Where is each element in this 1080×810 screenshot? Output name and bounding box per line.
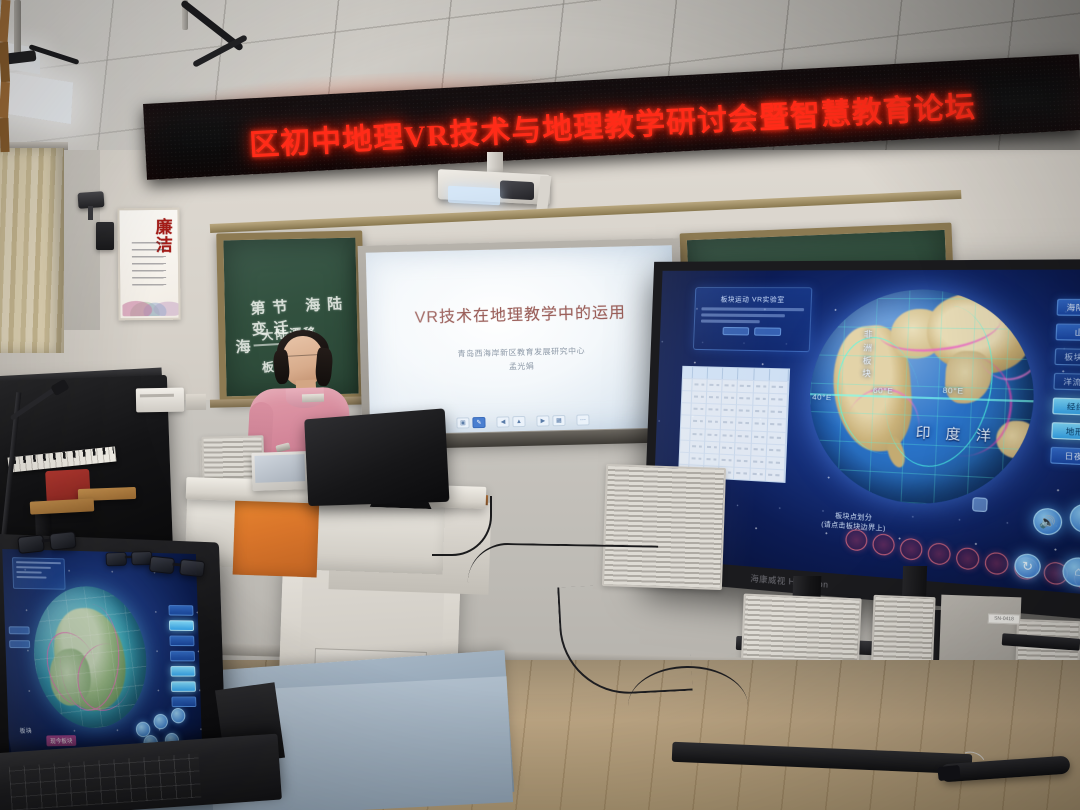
laptop-menu-item-2[interactable] bbox=[169, 636, 194, 647]
laptop-play-button[interactable] bbox=[9, 626, 30, 634]
3d-glasses-lens-right bbox=[179, 559, 205, 578]
projector-mount-pole bbox=[487, 152, 503, 174]
projection-screen-surface: VR技术在地理教学中的运用 青岛西海岸新区教育发展研究中心 孟光娟 ▣ ✎ ◀ … bbox=[366, 245, 676, 434]
podium-cable-2 bbox=[468, 542, 659, 585]
volume-icon[interactable]: 🔊 bbox=[1033, 507, 1063, 536]
laptop-info-line-3 bbox=[16, 571, 41, 574]
play-icon[interactable]: ▶ bbox=[1069, 503, 1080, 534]
tv-menu-item-3[interactable]: 洋流洋脊 bbox=[1053, 373, 1080, 391]
tv-hotspot[interactable] bbox=[926, 541, 952, 566]
tv-info-panel[interactable]: 板块运动 VR实验室 bbox=[693, 287, 813, 352]
printer-paper-slot bbox=[140, 394, 174, 398]
refresh-icon[interactable]: ↻ bbox=[1014, 553, 1041, 579]
3d-glasses-back[interactable] bbox=[106, 549, 153, 568]
poster-flower-art bbox=[122, 286, 178, 317]
gridline-label-80e: 80°E bbox=[942, 385, 963, 395]
laptop-screen[interactable]: 板块 现今板块 bbox=[2, 549, 202, 761]
laptop-menu-item-4[interactable] bbox=[170, 666, 195, 677]
wall-speaker bbox=[96, 222, 114, 250]
laptop-badge-secondary: 现今板块 bbox=[46, 735, 76, 746]
wall-label-tag: SN-0418 bbox=[988, 613, 1020, 624]
board-eraser bbox=[302, 394, 324, 403]
pointer-icon[interactable]: ▲ bbox=[512, 416, 525, 427]
tv-menu-item-4[interactable]: 经纬网 bbox=[1052, 397, 1080, 416]
floor-microphone-clip bbox=[937, 765, 960, 781]
laptop-menu-item-5[interactable] bbox=[171, 681, 196, 692]
prev-icon[interactable]: ◀ bbox=[496, 416, 509, 427]
th-plate bbox=[693, 367, 709, 379]
ceiling-projector bbox=[438, 169, 550, 205]
tv-data-table[interactable] bbox=[678, 366, 790, 483]
window-curtain bbox=[0, 148, 64, 353]
tv-hotspot[interactable] bbox=[871, 532, 896, 557]
gridline-label-40e: 40°E bbox=[812, 392, 832, 402]
slideshow-icon[interactable]: ▣ bbox=[456, 417, 469, 428]
tv-start-button[interactable] bbox=[722, 326, 749, 335]
projector-light-glow bbox=[448, 186, 500, 206]
home-icon[interactable]: ⌂ bbox=[1062, 556, 1080, 588]
stool-front-leg-right bbox=[0, 118, 10, 152]
3d-glasses-lens-left bbox=[149, 556, 175, 575]
wall-camera-arm bbox=[88, 206, 93, 220]
wall-poster: 廉洁 bbox=[117, 208, 180, 321]
laptop-badge-label: 板块 bbox=[20, 726, 32, 735]
slide-title: VR技术在地理教学中的运用 bbox=[367, 297, 673, 328]
screen-glare bbox=[366, 245, 548, 434]
pen-icon[interactable]: ✎ bbox=[472, 417, 485, 428]
th-index bbox=[683, 367, 693, 378]
projector-lens bbox=[500, 180, 534, 200]
th-boundary bbox=[754, 369, 770, 381]
th-landform bbox=[770, 369, 789, 381]
surface-tablet-screen[interactable] bbox=[254, 454, 305, 483]
podium-monitor[interactable] bbox=[304, 408, 449, 506]
laptop-info-line-4 bbox=[16, 576, 46, 579]
grid-icon[interactable]: ▦ bbox=[552, 415, 565, 426]
th-type bbox=[708, 367, 724, 379]
laptop-info-line-1 bbox=[16, 561, 61, 564]
tv-control-cluster[interactable]: ▶ 🔊 ↻ ⌂ bbox=[969, 497, 1080, 591]
tv-info-line-1 bbox=[701, 307, 804, 310]
tv-info-button-group[interactable] bbox=[700, 326, 803, 336]
th-direction bbox=[723, 368, 739, 380]
laptop-info-line-2 bbox=[16, 566, 51, 569]
laptop-menu-item-1[interactable] bbox=[169, 620, 194, 631]
tv-menu-item-1[interactable]: 山脉 bbox=[1055, 323, 1080, 341]
speaker-mount-pole-left bbox=[14, 0, 21, 58]
laptop-menu-item-3[interactable] bbox=[170, 651, 195, 662]
tv-hotspot[interactable] bbox=[899, 537, 924, 562]
surface-tablet[interactable] bbox=[251, 451, 308, 491]
chalk-line-2: 海 bbox=[235, 336, 251, 358]
th-rate bbox=[738, 368, 754, 380]
plate-label-africa: 非 洲 板 块 bbox=[860, 330, 874, 379]
tv-info-line-2 bbox=[701, 313, 785, 316]
tv-menu-item-0[interactable]: 海陆分布 bbox=[1057, 299, 1080, 316]
tv-hotspot[interactable] bbox=[844, 528, 869, 553]
3d-glasses-lens-left bbox=[106, 552, 127, 566]
gridline-label-60e: 60°E bbox=[873, 386, 894, 396]
ocean-label-indian: 印 度 洋 bbox=[915, 421, 997, 445]
tv-menu-item-6[interactable]: 日夜线 bbox=[1050, 447, 1080, 467]
laptop-menu-item-6[interactable] bbox=[171, 696, 196, 707]
podium-orange-panel bbox=[233, 495, 320, 578]
tv-menu-item-2[interactable]: 板块运动 bbox=[1054, 348, 1080, 366]
presentation-toolbar[interactable]: ▣ ✎ ◀ ▲ ▶ ▦ ⋯ bbox=[456, 414, 589, 428]
3d-glasses-lens-left bbox=[17, 534, 45, 554]
window-frame bbox=[58, 150, 100, 330]
laptop-reset-button[interactable] bbox=[9, 640, 30, 648]
small-box bbox=[186, 394, 206, 410]
tv-info-panel-title: 板块运动 VR实验室 bbox=[702, 293, 805, 304]
tv-stop-button[interactable] bbox=[972, 497, 988, 512]
poster-verse-text bbox=[132, 242, 166, 286]
laptop-info-panel[interactable] bbox=[12, 557, 66, 590]
next-icon[interactable]: ▶ bbox=[536, 415, 549, 426]
presenter-eyeline bbox=[286, 354, 318, 365]
laptop-play-icon[interactable] bbox=[171, 708, 186, 723]
more-icon[interactable]: ⋯ bbox=[576, 414, 589, 425]
classroom-scene: 区初中地理VR技术与地理教学研讨会暨智慧教育论坛 廉洁 第节 海陆变迁 海 大陆… bbox=[0, 0, 1080, 810]
tv-info-line-3 bbox=[701, 320, 760, 323]
laptop-volume-icon[interactable] bbox=[153, 714, 168, 729]
laptop-side-menu[interactable] bbox=[168, 605, 196, 707]
tv-menu-item-5[interactable]: 地形图 bbox=[1051, 422, 1080, 441]
printer bbox=[136, 388, 184, 413]
3d-glasses-lens-right bbox=[49, 531, 77, 551]
tv-reset-button[interactable] bbox=[754, 327, 781, 336]
laptop-menu-item-0[interactable] bbox=[168, 605, 193, 616]
